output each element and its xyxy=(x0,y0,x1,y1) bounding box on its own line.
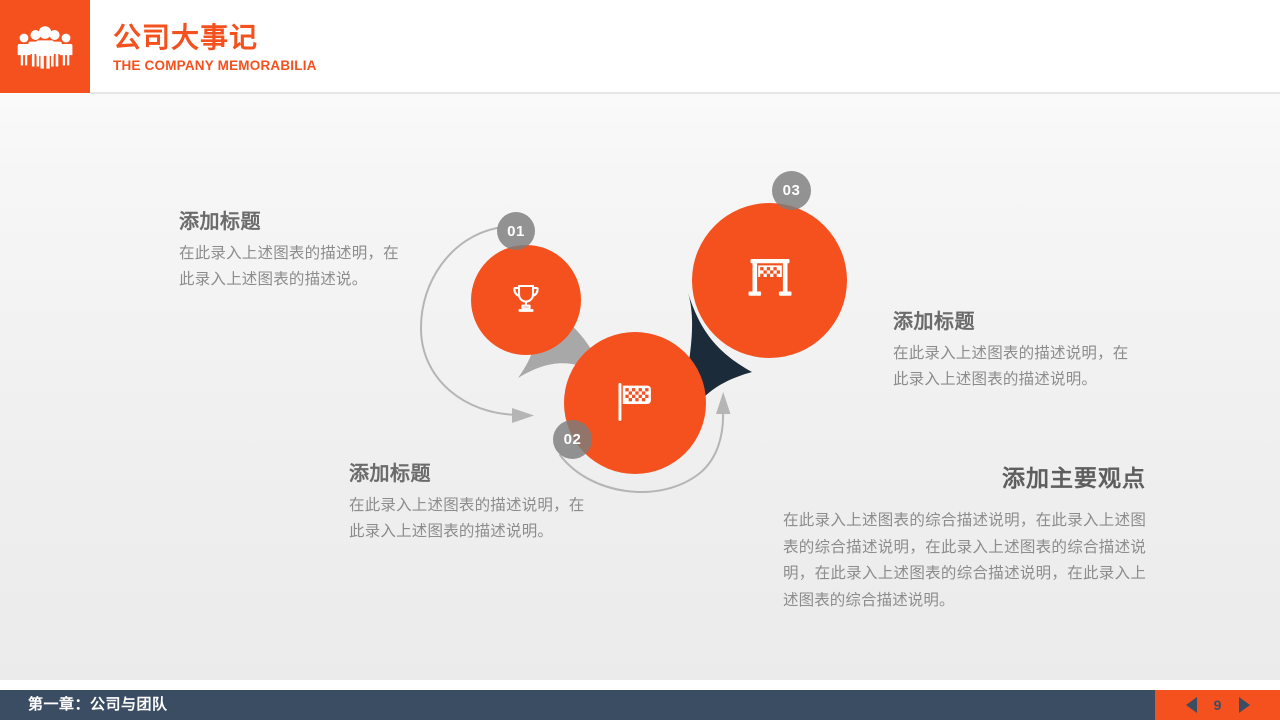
text-block-2: 添加标题 在此录入上述图表的描述说明，在此录入上述图表的描述说明。 xyxy=(349,460,597,544)
text-block-3-body: 在此录入上述图表的描述说明，在此录入上述图表的描述说明。 xyxy=(893,341,1133,392)
main-summary-heading: 添加主要观点 xyxy=(783,462,1146,494)
diagram-badge-03: 03 xyxy=(772,171,811,210)
slide-header: 公司大事记 THE COMPANY MEMORABILIA xyxy=(0,0,1280,94)
footer-chapter-bar: 第一章：公司与团队 xyxy=(0,690,1155,720)
diagram-badge-02: 02 xyxy=(553,420,592,459)
text-block-2-body: 在此录入上述图表的描述说明，在此录入上述图表的描述说明。 xyxy=(349,493,597,544)
slide: 公司大事记 THE COMPANY MEMORABILIA xyxy=(0,0,1280,720)
footer-chapter-label: 第一章：公司与团队 xyxy=(28,695,168,715)
triangle-left-icon[interactable] xyxy=(1186,697,1197,713)
text-block-1-heading: 添加标题 xyxy=(179,208,411,236)
main-summary-body: 在此录入上述图表的综合描述说明，在此录入上述图表的综合描述说明，在此录入上述图表… xyxy=(783,508,1146,614)
header-title-group: 公司大事记 THE COMPANY MEMORABILIA xyxy=(113,21,317,75)
diagram-node-01[interactable] xyxy=(471,245,581,355)
people-group-icon xyxy=(17,25,73,69)
main-summary-block: 添加主要观点 在此录入上述图表的综合描述说明，在此录入上述图表的综合描述说明，在… xyxy=(783,462,1146,614)
text-block-1: 添加标题 在此录入上述图表的描述明，在此录入上述图表的描述说。 xyxy=(179,208,411,292)
diagram-node-03[interactable] xyxy=(692,203,847,358)
trophy-icon xyxy=(506,278,546,323)
triangle-right-icon[interactable] xyxy=(1239,697,1250,713)
slide-footer: 第一章：公司与团队 9 xyxy=(0,690,1280,720)
page-title: 公司大事记 xyxy=(113,21,317,55)
footer-nav: 9 xyxy=(1155,690,1280,720)
page-number: 9 xyxy=(1213,696,1223,714)
checkered-flag-icon xyxy=(607,373,663,434)
finish-line-gate-icon xyxy=(739,247,801,314)
text-block-2-heading: 添加标题 xyxy=(349,460,597,488)
page-subtitle: THE COMPANY MEMORABILIA xyxy=(113,57,317,75)
logo-badge xyxy=(0,0,90,93)
diagram-badge-01: 01 xyxy=(497,212,535,250)
header-divider xyxy=(90,92,1280,94)
text-block-1-body: 在此录入上述图表的描述明，在此录入上述图表的描述说。 xyxy=(179,241,411,292)
text-block-3: 添加标题 在此录入上述图表的描述说明，在此录入上述图表的描述说明。 xyxy=(893,308,1133,392)
text-block-3-heading: 添加标题 xyxy=(893,308,1133,336)
